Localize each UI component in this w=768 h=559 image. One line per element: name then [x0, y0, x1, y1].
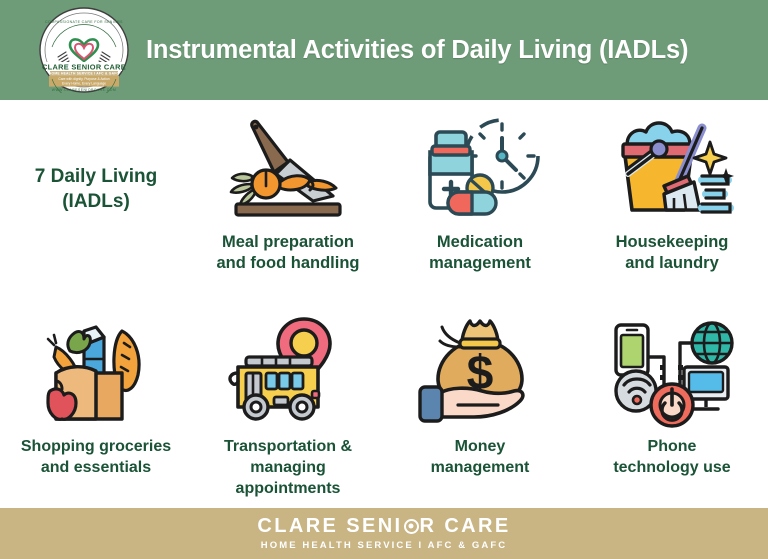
item-label: Housekeeping and laundry — [612, 232, 733, 275]
connected-devices-icon — [602, 313, 742, 431]
svg-text:WWW.CLARESENIORCARE.COM: WWW.CLARESENIORCARE.COM — [52, 88, 116, 92]
footer-brand: CLARE SENI R CARE — [257, 516, 510, 536]
item-shopping-groceries[interactable]: Shopping groceries and essentials — [0, 305, 192, 508]
intro-line-2: (IADLs) — [52, 190, 140, 214]
svg-text:HOME HEALTH SERVICE I AFC & GA: HOME HEALTH SERVICE I AFC & GAFC — [49, 72, 120, 76]
item-label: Money management — [427, 437, 534, 479]
item-label: Phone technology use — [609, 437, 734, 479]
item-label: Shopping groceries and essentials — [17, 437, 175, 479]
svg-text:Every Home, Every Language: Every Home, Every Language — [62, 81, 106, 85]
item-medication-management[interactable]: Medication management — [384, 100, 576, 305]
item-phone-technology-use[interactable]: Phone technology use — [576, 305, 768, 508]
icon-grid: 7 Daily Living (IADLs) — [0, 100, 768, 508]
clare-senior-care-logo: COMPASSIONATE CARE FOR SENIORS CLARE SEN… — [38, 7, 130, 93]
pill-bottle-clock-icon — [410, 108, 550, 226]
item-housekeeping-laundry[interactable]: Housekeeping and laundry — [576, 100, 768, 305]
grocery-bag-icon — [26, 313, 166, 431]
bucket-mop-icon — [602, 108, 742, 226]
icon-row-two: Shopping groceries and essentials — [0, 305, 768, 508]
header-banner: COMPASSIONATE CARE FOR SENIORS CLARE SEN… — [0, 0, 768, 100]
bus-location-pin-icon — [218, 313, 358, 431]
svg-text:CLARE SENIOR CARE: CLARE SENIOR CARE — [42, 63, 126, 72]
item-label: Transportation & managing appointments — [192, 437, 384, 499]
hand-money-bag-icon: $ — [410, 313, 550, 431]
item-transportation-appointments[interactable]: Transportation & managing appointments — [192, 305, 384, 508]
knife-cutting-board-icon — [218, 108, 358, 226]
intro-line-1: 7 Daily Living — [25, 165, 167, 189]
infographic-poster: COMPASSIONATE CARE FOR SENIORS CLARE SEN… — [0, 0, 768, 559]
page-title: Instrumental Activities of Daily Living … — [146, 36, 688, 65]
footer-brand-part-2: R CARE — [420, 516, 511, 536]
svg-text:COMPASSIONATE CARE FOR SENIORS: COMPASSIONATE CARE FOR SENIORS — [45, 20, 123, 24]
eye-o-icon — [404, 519, 419, 534]
item-label: Medication management — [425, 232, 535, 275]
svg-text:Care with dignity, Purpose & A: Care with dignity, Purpose & Action — [58, 77, 109, 81]
footer-brand-part-1: CLARE SENI — [257, 516, 402, 536]
item-label: Meal preparation and food handling — [213, 232, 364, 275]
footer-banner: CLARE SENI R CARE HOME HEALTH SERVICE I … — [0, 508, 768, 559]
icon-row-one: 7 Daily Living (IADLs) — [0, 100, 768, 305]
item-meal-preparation[interactable]: Meal preparation and food handling — [192, 100, 384, 305]
item-money-management[interactable]: $ Money management — [384, 305, 576, 508]
footer-tagline: HOME HEALTH SERVICE I AFC & GAFC — [261, 541, 507, 551]
intro-block: 7 Daily Living (IADLs) — [0, 100, 192, 305]
